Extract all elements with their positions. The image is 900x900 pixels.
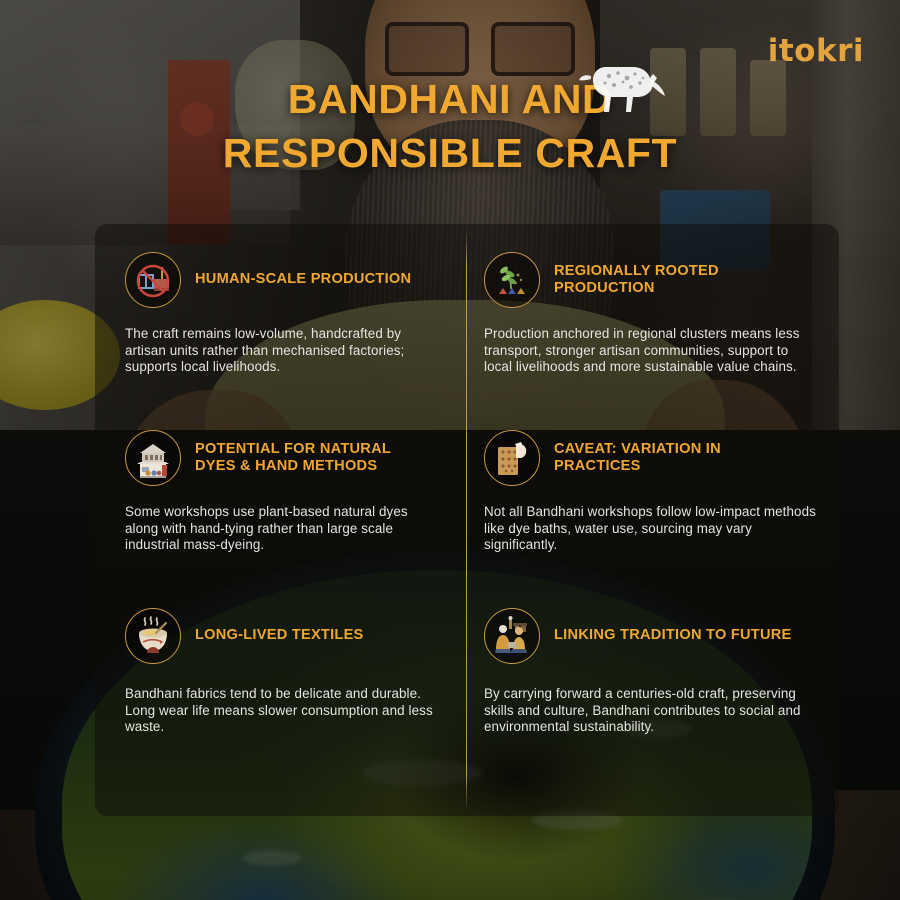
card-body: By carrying forward a centuries-old craf…: [484, 686, 817, 736]
title-line-1: BANDHANI AND: [0, 72, 900, 126]
card-title: LONG-LIVED TEXTILES: [195, 627, 364, 645]
card-title: REGIONALLY ROOTED PRODUCTION: [554, 263, 794, 298]
card-header: HUMAN-SCALE PRODUCTION: [125, 252, 440, 308]
card-body: Bandhani fabrics tend to be delicate and…: [125, 686, 440, 736]
card-header: LINKING TRADITION TO FUTURE: [484, 608, 817, 664]
card-header: LONG-LIVED TEXTILES: [125, 608, 440, 664]
card-body: Some workshops use plant-based natural d…: [125, 504, 440, 554]
card-title: POTENTIAL FOR NATURAL DYES & HAND METHOD…: [195, 441, 425, 476]
workshop-building-icon: [125, 430, 181, 486]
no-factory-icon: [125, 252, 181, 308]
card-regionally-rooted-production: REGIONALLY ROOTED PRODUCTION Production …: [466, 224, 839, 402]
two-artisans-icon: [484, 608, 540, 664]
card-title: LINKING TRADITION TO FUTURE: [554, 627, 792, 645]
card-header: POTENTIAL FOR NATURAL DYES & HAND METHOD…: [125, 430, 440, 486]
card-header: CAVEAT: VARIATION IN PRACTICES: [484, 430, 817, 486]
card-body: Production anchored in regional clusters…: [484, 326, 817, 376]
title-line-2: RESPONSIBLE CRAFT: [0, 126, 900, 180]
content-panel: HUMAN-SCALE PRODUCTION The craft remains…: [95, 224, 839, 816]
card-natural-dyes-hand-methods: POTENTIAL FOR NATURAL DYES & HAND METHOD…: [95, 402, 466, 580]
page-title: BANDHANI AND RESPONSIBLE CRAFT: [0, 72, 900, 180]
card-title: CAVEAT: VARIATION IN PRACTICES: [554, 441, 794, 476]
card-caveat-variation-in-practices: CAVEAT: VARIATION IN PRACTICES Not all B…: [466, 402, 839, 580]
card-title: HUMAN-SCALE PRODUCTION: [195, 271, 411, 289]
hand-holding-fabric-icon: [484, 430, 540, 486]
dye-pot-icon: [125, 608, 181, 664]
card-header: REGIONALLY ROOTED PRODUCTION: [484, 252, 817, 308]
card-linking-tradition-to-future: LINKING TRADITION TO FUTURE By carrying …: [466, 580, 839, 816]
card-long-lived-textiles: LONG-LIVED TEXTILES Bandhani fabrics ten…: [95, 580, 466, 816]
cow-icon: [573, 50, 669, 116]
card-human-scale-production: HUMAN-SCALE PRODUCTION The craft remains…: [95, 224, 466, 402]
infographic-poster: itokri BANDHANI AND RESPONSIBLE CRAFT: [0, 0, 900, 900]
card-body: The craft remains low-volume, handcrafte…: [125, 326, 440, 376]
plant-dye-icon: [484, 252, 540, 308]
card-body: Not all Bandhani workshops follow low-im…: [484, 504, 817, 554]
brand-logo[interactable]: itokri: [768, 33, 864, 69]
